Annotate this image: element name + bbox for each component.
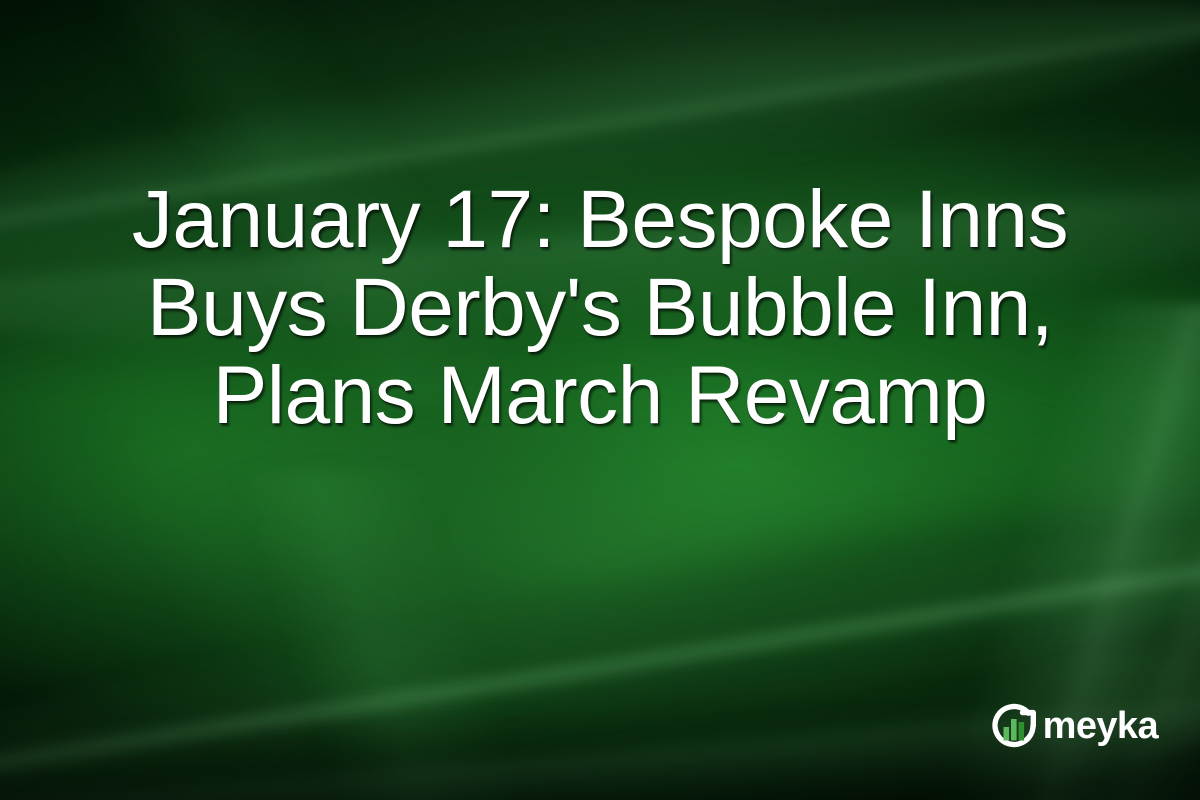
news-card: January 17: Bespoke Inns Buys Derby's Bu…	[0, 0, 1200, 800]
bar-chart-ring-icon	[988, 700, 1040, 752]
logo-bar-middle	[1011, 719, 1017, 741]
background-wave-wisp-lower	[0, 470, 920, 800]
headline: January 17: Bespoke Inns Buys Derby's Bu…	[0, 176, 1200, 440]
headline-line-3: Plans March Revamp	[70, 352, 1130, 440]
logo-wordmark: meyka	[1043, 707, 1158, 745]
logo-bar-left	[1003, 727, 1009, 741]
background-wave-streak-lower-1	[0, 484, 1200, 800]
meyka-logo[interactable]: meyka	[988, 700, 1158, 752]
headline-line-2: Buys Derby's Bubble Inn,	[70, 264, 1130, 352]
headline-line-1: January 17: Bespoke Inns	[70, 176, 1130, 264]
logo-bar-right	[1018, 722, 1024, 741]
